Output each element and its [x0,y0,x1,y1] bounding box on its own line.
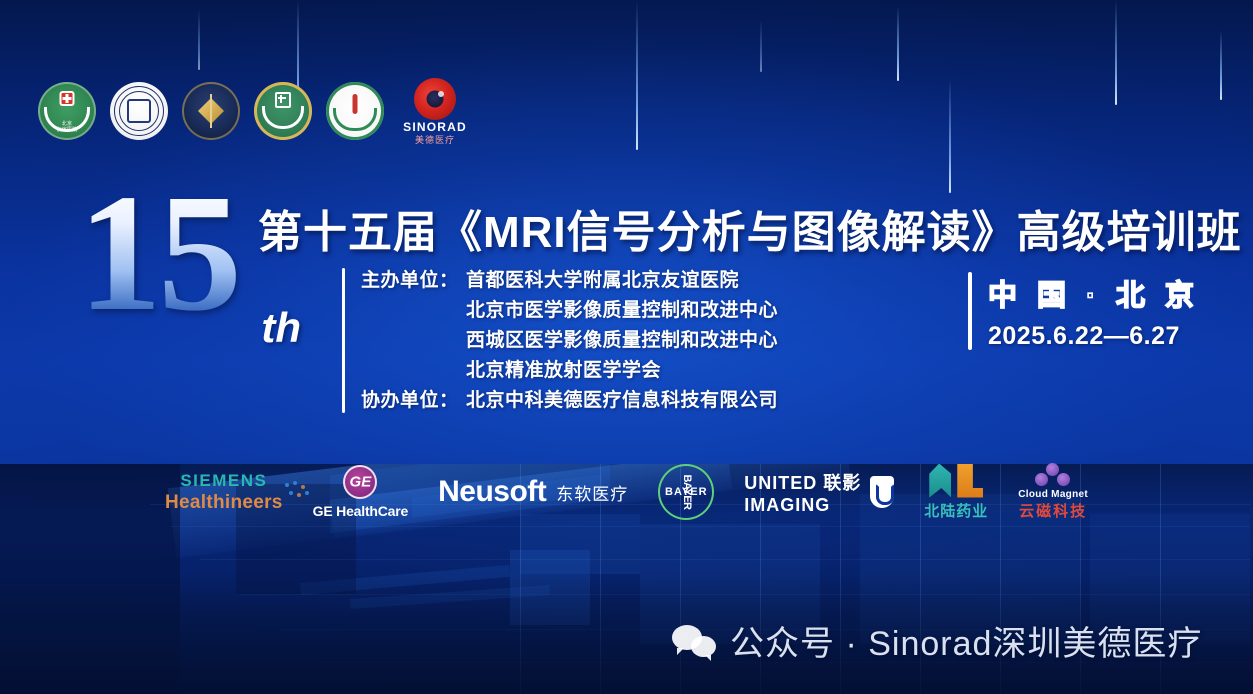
siemens-dots-icon [285,481,311,501]
place-date-column: 中 国 · 北 京 2025.6.22—6.27 [988,272,1200,351]
event-date: 2025.6.22—6.27 [988,322,1200,351]
ge-monogram-icon: GE [343,465,377,499]
meteor-streak [760,20,762,72]
sinorad-name-cn: 美德医疗 [402,133,468,146]
emblem-label: 北京友谊医院 [38,121,96,133]
sinorad-logo: SINORAD 美德医疗 [402,78,468,144]
neusoft-wordmark-cn: 东软医疗 [556,480,628,505]
bayer-wordmark-vertical: BAYER [681,475,692,510]
sponsor-ge-healthcare: GE GE HealthCare [313,465,408,519]
organizer-row: 协办单位： 北京中科美德医疗信息科技有限公司 [361,388,778,413]
ge-wordmark: GE HealthCare [313,503,408,519]
sinorad-name-en: SINORAD [402,120,468,134]
compass-needle-icon [210,94,212,128]
sponsor-bayer: BAYER BAYER [658,464,714,520]
beilu-wordmark: 北陆药业 [924,500,988,521]
precision-radiology-society-emblem [326,82,384,140]
organizer-row: 西城区医学影像质量控制和改进中心 [361,328,778,353]
wechat-account-text: 公众号 · Sinorad深圳美德医疗 [730,616,1202,665]
united-imaging-line1: UNITED 联影 [744,469,861,495]
edition-suffix: th [261,304,301,352]
organizer-row: 北京市医学影像质量控制和改进中心 [361,298,778,323]
meteor-streak [636,0,638,150]
place-divider [968,272,972,350]
organizer-key: 协办单位： [361,388,466,413]
sponsor-united-imaging: UNITED 联影 IMAGING [744,469,894,516]
siemens-wordmark: SIEMENS [180,471,267,491]
meteor-streak [1220,30,1222,100]
organizer-value: 北京市医学影像质量控制和改进中心 [466,298,778,323]
neusoft-wordmark-en: Neusoft [438,475,546,509]
gold-compass-society-emblem [182,82,240,140]
cloud-magnet-wordmark-en: Cloud Magnet [1018,489,1088,500]
organizer-emblem-row: 北京友谊医院 SINORAD 美德医疗 [38,78,468,144]
meteor-streak [1115,0,1117,105]
event-location: 中 国 · 北 京 [988,272,1200,314]
healthineers-wordmark: Healthineers [165,492,283,514]
place-date-block: 中 国 · 北 京 2025.6.22—6.27 [968,272,1200,351]
beilu-mark-icon [929,464,983,498]
red-cross-icon [60,91,75,106]
organizer-row: 北京精准放射医学学会 [361,358,778,383]
organizer-rows: 主办单位： 首都医科大学附属北京友谊医院 北京市医学影像质量控制和改进中心 西城… [361,268,778,413]
organizer-divider [342,268,345,413]
organizer-value: 北京精准放射医学学会 [466,358,661,383]
cloud-magnet-molecule-icon [1035,463,1071,487]
united-imaging-wordmark: UNITED 联影 IMAGING [744,469,861,516]
beijing-friendship-hospital-emblem: 北京友谊医院 [38,82,96,140]
sponsor-siemens-healthineers: SIEMENS Healthineers [165,471,283,514]
organizer-value: 西城区医学影像质量控制和改进中心 [466,328,778,353]
conference-poster: 北京友谊医院 SINORAD 美德医疗 15 th 第十五届《MRI信 [0,0,1253,694]
sponsor-cloud-magnet: Cloud Magnet 云磁科技 [1018,463,1088,521]
wechat-footer: 公众号 · Sinorad深圳美德医疗 [672,616,1202,665]
organizer-block: 主办单位： 首都医科大学附属北京友谊医院 北京市医学影像质量控制和改进中心 西城… [342,268,778,413]
organizer-row: 主办单位： 首都医科大学附属北京友谊医院 [361,268,778,293]
sponsor-neusoft: Neusoft 东软医疗 [438,475,628,509]
meteor-streak [949,78,951,193]
medical-association-seal-emblem [110,82,168,140]
dove-wings-icon [333,108,377,131]
meteor-streak [198,10,200,70]
quality-control-center-emblem [254,82,312,140]
united-imaging-shield-icon [870,476,894,508]
sinorad-eye-icon [414,78,456,120]
sponsor-beilu-pharma: 北陆药业 [924,464,988,521]
wechat-icon [672,625,716,657]
cloud-magnet-wordmark-cn: 云磁科技 [1019,500,1087,521]
sponsor-logo-row: SIEMENS Healthineers GE GE HealthCare Ne… [0,452,1253,532]
page-title: 第十五届《MRI信号分析与图像解读》高级培训班 [258,196,1242,260]
bayer-cross-icon: BAYER BAYER [658,464,714,520]
united-imaging-line2: IMAGING [744,495,830,516]
organizer-value: 首都医科大学附属北京友谊医院 [466,268,739,293]
seal-glyph-icon [127,99,151,123]
dove-wings-icon [262,106,304,129]
meteor-streak [897,6,899,81]
organizer-value: 北京中科美德医疗信息科技有限公司 [466,388,778,413]
organizer-key: 主办单位： [361,268,466,293]
